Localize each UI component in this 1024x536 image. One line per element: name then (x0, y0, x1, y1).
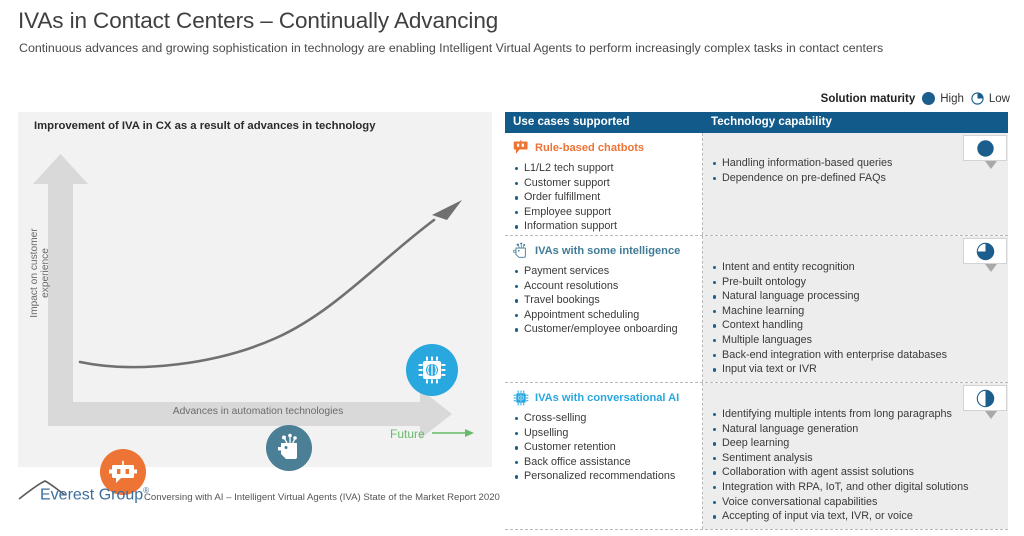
row-title: IVAs with some intelligence (535, 245, 680, 257)
use-case-list: Cross-selling Upselling Customer retenti… (513, 411, 698, 484)
table-row[interactable]: IVAs with some intelligence Payment serv… (505, 236, 1008, 383)
half-circle-icon (976, 389, 995, 408)
future-arrow-head (465, 429, 474, 437)
x-axis-label: Advances in automation technologies (118, 406, 398, 417)
callout-pointer-icon (985, 264, 997, 272)
chatbot-icon (513, 139, 529, 157)
list-item: Upselling (513, 426, 698, 441)
filled-circle-icon (922, 92, 935, 105)
list-item: Cross-selling (513, 411, 698, 426)
maturity-indicator-three-quarter (963, 238, 1007, 264)
three-quarter-pie-icon (976, 242, 995, 261)
maturity-indicator-high (963, 135, 1007, 161)
capability-list: Intent and entity recognition Pre-built … (711, 260, 1004, 377)
brand-name: Everest Group® (40, 486, 149, 504)
status-badge[interactable] (963, 238, 1007, 272)
plot-area (73, 184, 420, 402)
trend-arrowhead (432, 200, 462, 220)
list-item: Natural language processing (711, 289, 1004, 304)
chart-node-ivas-some-intelligence[interactable] (266, 425, 312, 471)
callout-pointer-icon (985, 411, 997, 419)
list-item: Pre-built ontology (711, 275, 1004, 290)
ai-chip-brain-icon (416, 354, 448, 386)
list-item: Back office assistance (513, 455, 698, 470)
cell-capabilities: Intent and entity recognition Pre-built … (703, 236, 1008, 382)
page-subtitle: Continuous advances and growing sophisti… (19, 41, 883, 55)
table-header-row: Use cases supported Technology capabilit… (505, 112, 1008, 133)
capability-list: Identifying multiple intents from long p… (711, 407, 1004, 524)
maturity-indicator-half (963, 385, 1007, 411)
list-item: Identifying multiple intents from long p… (711, 407, 1004, 422)
table-row[interactable]: IVAs with conversational AI Cross-sellin… (505, 383, 1008, 530)
capability-list: Handling information-based queries Depen… (711, 156, 1004, 185)
list-item: Payment services (513, 264, 698, 279)
y-axis-label: Impact on customer experience (29, 208, 51, 338)
cell-use-cases: Rule-based chatbots L1/L2 tech support C… (505, 133, 703, 235)
list-item: L1/L2 tech support (513, 161, 698, 176)
list-item: Customer support (513, 176, 698, 191)
list-item: Personalized recommendations (513, 469, 698, 484)
legend-label-low: Low (989, 93, 1010, 105)
row-heading: IVAs with some intelligence (513, 242, 698, 260)
list-item: Voice conversational capabilities (711, 495, 1004, 510)
list-item: Natural language generation (711, 422, 1004, 437)
cell-capabilities: Handling information-based queries Depen… (703, 133, 1008, 235)
list-item: Multiple languages (711, 333, 1004, 348)
status-badge[interactable] (963, 135, 1007, 169)
slide: IVAs in Contact Centers – Continually Ad… (0, 0, 1024, 536)
use-case-list: L1/L2 tech support Customer support Orde… (513, 161, 698, 234)
footer: Everest Group® Conversing with AI – Inte… (18, 480, 500, 508)
use-case-list: Payment services Account resolutions Tra… (513, 264, 698, 337)
page-title: IVAs in Contact Centers – Continually Ad… (18, 8, 498, 34)
cell-capabilities: Identifying multiple intents from long p… (703, 383, 1008, 529)
filled-circle-icon (976, 139, 995, 158)
ai-chip-brain-icon (513, 389, 529, 407)
row-title: Rule-based chatbots (535, 142, 644, 154)
list-item: Machine learning (711, 304, 1004, 319)
robot-head-icon (275, 433, 303, 463)
column-header-technology-capability: Technology capability (703, 112, 1008, 133)
list-item: Deep learning (711, 436, 1004, 451)
list-item: Employee support (513, 205, 698, 220)
list-item: Integration with RPA, IoT, and other dig… (711, 480, 1004, 495)
list-item: Dependence on pre-defined FAQs (711, 171, 1004, 186)
list-item: Order fulfillment (513, 190, 698, 205)
list-item: Sentiment analysis (711, 451, 1004, 466)
row-title: IVAs with conversational AI (535, 392, 679, 404)
legend-title: Solution maturity (821, 93, 916, 105)
list-item: Input via text or IVR (711, 362, 1004, 377)
table-row[interactable]: Rule-based chatbots L1/L2 tech support C… (505, 133, 1008, 236)
list-item: Context handling (711, 318, 1004, 333)
callout-pointer-icon (985, 161, 997, 169)
list-item: Customer/employee onboarding (513, 322, 698, 337)
list-item: Back-end integration with enterprise dat… (711, 348, 1004, 363)
list-item: Travel bookings (513, 293, 698, 308)
list-item: Collaboration with agent assist solution… (711, 465, 1004, 480)
list-item: Information support (513, 219, 698, 234)
list-item: Account resolutions (513, 279, 698, 294)
quarter-pie-icon (971, 92, 984, 105)
chart-panel: Improvement of IVA in CX as a result of … (18, 112, 492, 467)
legend-label-high: High (940, 93, 964, 105)
legend: Solution maturity High Low (821, 92, 1010, 105)
row-heading: Rule-based chatbots (513, 139, 698, 157)
column-header-use-cases: Use cases supported (505, 112, 703, 133)
list-item: Accepting of input via text, IVR, or voi… (711, 509, 1004, 524)
legend-item-low: Low (971, 92, 1010, 105)
list-item: Handling information-based queries (711, 156, 1004, 171)
cell-use-cases: IVAs with conversational AI Cross-sellin… (505, 383, 703, 529)
list-item: Intent and entity recognition (711, 260, 1004, 275)
registered-mark: ® (143, 486, 149, 495)
capability-table: Use cases supported Technology capabilit… (505, 112, 1008, 530)
source-note: Conversing with AI – Intelligent Virtual… (144, 492, 500, 508)
robot-head-icon (513, 242, 529, 260)
list-item: Customer retention (513, 440, 698, 455)
legend-item-high: High (922, 92, 964, 105)
chart-node-ivas-conversational-ai[interactable] (406, 344, 458, 396)
row-heading: IVAs with conversational AI (513, 389, 698, 407)
future-annotation: Future (390, 427, 425, 441)
everest-group-logo: Everest Group® (18, 480, 136, 508)
cell-use-cases: IVAs with some intelligence Payment serv… (505, 236, 703, 382)
list-item: Appointment scheduling (513, 308, 698, 323)
status-badge[interactable] (963, 385, 1007, 419)
